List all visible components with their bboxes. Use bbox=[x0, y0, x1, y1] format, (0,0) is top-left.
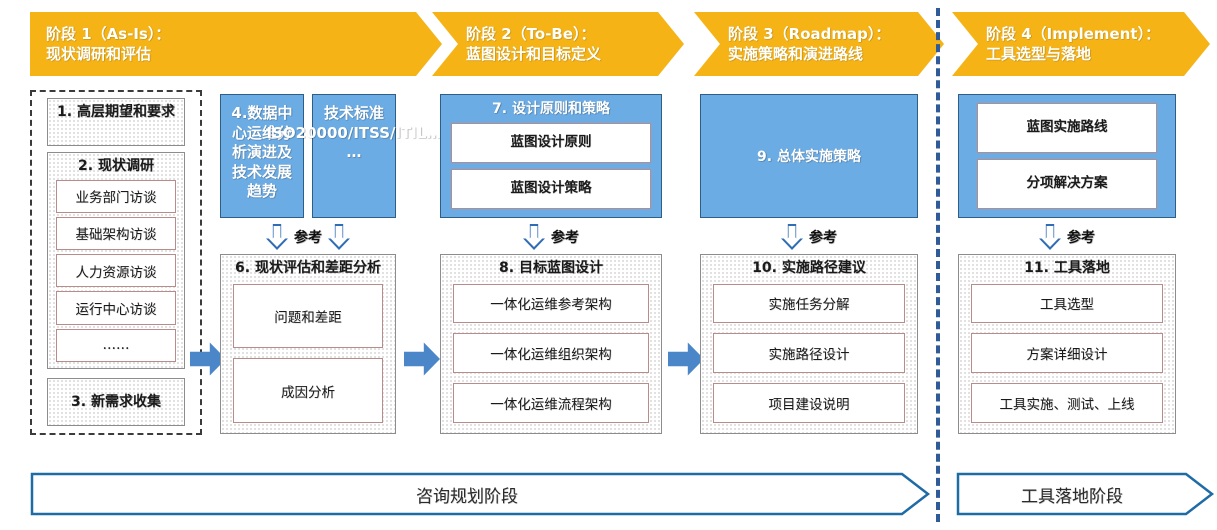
footer-banner-tooling-label: 工具落地阶段 bbox=[1021, 482, 1123, 507]
list-item[interactable]: 成因分析 bbox=[233, 358, 383, 423]
list-item[interactable]: 工具选型 bbox=[971, 284, 1163, 324]
down-arrow-icon bbox=[1039, 224, 1061, 250]
reference-arrows-column-5: 参考 bbox=[958, 222, 1176, 252]
phase-separator-divider bbox=[936, 8, 940, 522]
box-1-title: 1. 高层期望和要求 bbox=[48, 99, 184, 126]
footer-banner-consulting-label: 咨询规划阶段 bbox=[416, 482, 518, 507]
down-arrow-icon bbox=[523, 224, 545, 250]
list-item[interactable]: 蓝图设计策略 bbox=[451, 169, 651, 209]
list-item[interactable]: 方案详细设计 bbox=[971, 333, 1163, 373]
footer-banner-consulting: 咨询规划阶段 bbox=[32, 474, 902, 514]
box-11-tool-implementation[interactable]: 11. 工具落地 工具选型 方案详细设计 工具实施、测试、上线 bbox=[958, 254, 1176, 434]
list-item[interactable]: 业务部门访谈 bbox=[56, 180, 176, 213]
box-11-title: 11. 工具落地 bbox=[959, 255, 1175, 282]
footer-banner-tooling: 工具落地阶段 bbox=[958, 474, 1186, 514]
phase-banner-4: 阶段 4（Implement）： 工具选型与落地 bbox=[952, 12, 1210, 76]
flow-arrow-2-to-3 bbox=[404, 341, 440, 377]
box-2-title: 2. 现状调研 bbox=[48, 153, 184, 180]
phase-banner-2-line1: 阶段 2（To-Be）： bbox=[466, 24, 650, 44]
box-blueprint-rollout[interactable]: 蓝图实施路线 分项解决方案 bbox=[958, 94, 1176, 218]
phase-banner-1-line2: 现状调研和评估 bbox=[46, 44, 408, 64]
box-tech-standards[interactable]: 技术标准ISO20000/ITSS/ITIL… … bbox=[312, 94, 396, 218]
down-arrow-icon bbox=[328, 224, 350, 250]
list-item[interactable]: 基础架构访谈 bbox=[56, 217, 176, 250]
reference-label: 参考 bbox=[1067, 227, 1095, 247]
diagram-canvas: 阶段 1（As-Is）： 现状调研和评估 阶段 2（To-Be）： 蓝图设计和目… bbox=[0, 0, 1217, 530]
reference-label: 参考 bbox=[809, 227, 837, 247]
list-item[interactable]: 一体化运维组织架构 bbox=[453, 333, 649, 373]
list-item[interactable]: 分项解决方案 bbox=[977, 159, 1157, 209]
reference-arrows-column-2: 参考 bbox=[220, 222, 396, 252]
list-item[interactable]: 一体化运维参考架构 bbox=[453, 284, 649, 324]
box-10-implementation-path[interactable]: 10. 实施路径建议 实施任务分解 实施路径设计 项目建设说明 bbox=[700, 254, 918, 434]
box-9-title: 9. 总体实施策略 bbox=[753, 143, 865, 169]
list-item[interactable]: 项目建设说明 bbox=[713, 383, 905, 423]
phase-banner-1-line1: 阶段 1（As-Is）： bbox=[46, 24, 408, 44]
phase-banner-3: 阶段 3（Roadmap）： 实施策略和演进路线 bbox=[694, 12, 944, 76]
tech-standards-label: 技术标准ISO20000/ITSS/ITIL… … bbox=[263, 99, 446, 166]
box-6-gap-analysis[interactable]: 6. 现状评估和差距分析 问题和差距 成因分析 bbox=[220, 254, 396, 434]
box-7-design-principles[interactable]: 7. 设计原则和策略 蓝图设计原则 蓝图设计策略 bbox=[440, 94, 662, 218]
box-3-title: 3. 新需求收集 bbox=[48, 389, 184, 416]
box-3-new-requirements[interactable]: 3. 新需求收集 bbox=[47, 378, 185, 426]
phase-banner-3-line1: 阶段 3（Roadmap）： bbox=[728, 24, 910, 44]
list-item[interactable]: 问题和差距 bbox=[233, 284, 383, 349]
box-6-title: 6. 现状评估和差距分析 bbox=[221, 255, 395, 282]
phase-banner-1: 阶段 1（As-Is）： 现状调研和评估 bbox=[30, 12, 442, 76]
phase-banner-4-line2: 工具选型与落地 bbox=[986, 44, 1176, 64]
list-item[interactable]: 人力资源访谈 bbox=[56, 254, 176, 287]
box-9-overall-strategy[interactable]: 9. 总体实施策略 bbox=[700, 94, 918, 218]
reference-label: 参考 bbox=[294, 227, 322, 247]
reference-arrows-column-3: 参考 bbox=[440, 222, 662, 252]
list-item[interactable]: …… bbox=[56, 329, 176, 362]
box-1-high-level-expectations[interactable]: 1. 高层期望和要求 bbox=[47, 98, 185, 146]
down-arrow-icon bbox=[266, 224, 288, 250]
list-item[interactable]: 实施路径设计 bbox=[713, 333, 905, 373]
list-item[interactable]: 一体化运维流程架构 bbox=[453, 383, 649, 423]
box-7-title: 7. 设计原则和策略 bbox=[488, 95, 614, 121]
box-8-title: 8. 目标蓝图设计 bbox=[441, 255, 661, 282]
box-7-items: 蓝图设计原则 蓝图设计策略 bbox=[441, 121, 661, 217]
box-8-target-blueprint[interactable]: 8. 目标蓝图设计 一体化运维参考架构 一体化运维组织架构 一体化运维流程架构 bbox=[440, 254, 662, 434]
phase-banner-4-line1: 阶段 4（Implement）： bbox=[986, 24, 1176, 44]
box-2-current-state-research[interactable]: 2. 现状调研 业务部门访谈 基础架构访谈 人力资源访谈 运行中心访谈 …… bbox=[47, 152, 185, 369]
down-arrow-icon bbox=[781, 224, 803, 250]
blueprint-rollout-items: 蓝图实施路线 分项解决方案 bbox=[959, 95, 1175, 217]
phase-banner-3-line2: 实施策略和演进路线 bbox=[728, 44, 910, 64]
reference-arrows-column-4: 参考 bbox=[700, 222, 918, 252]
list-item[interactable]: 蓝图设计原则 bbox=[451, 123, 651, 163]
list-item[interactable]: 蓝图实施路线 bbox=[977, 103, 1157, 153]
phase-banner-2: 阶段 2（To-Be）： 蓝图设计和目标定义 bbox=[432, 12, 684, 76]
list-item[interactable]: 运行中心访谈 bbox=[56, 291, 176, 324]
list-item[interactable]: 工具实施、测试、上线 bbox=[971, 383, 1163, 423]
list-item[interactable]: 实施任务分解 bbox=[713, 284, 905, 324]
reference-label: 参考 bbox=[551, 227, 579, 247]
phase-banner-2-line2: 蓝图设计和目标定义 bbox=[466, 44, 650, 64]
flow-arrow-3-to-4 bbox=[668, 341, 704, 377]
box-10-title: 10. 实施路径建议 bbox=[701, 255, 917, 282]
